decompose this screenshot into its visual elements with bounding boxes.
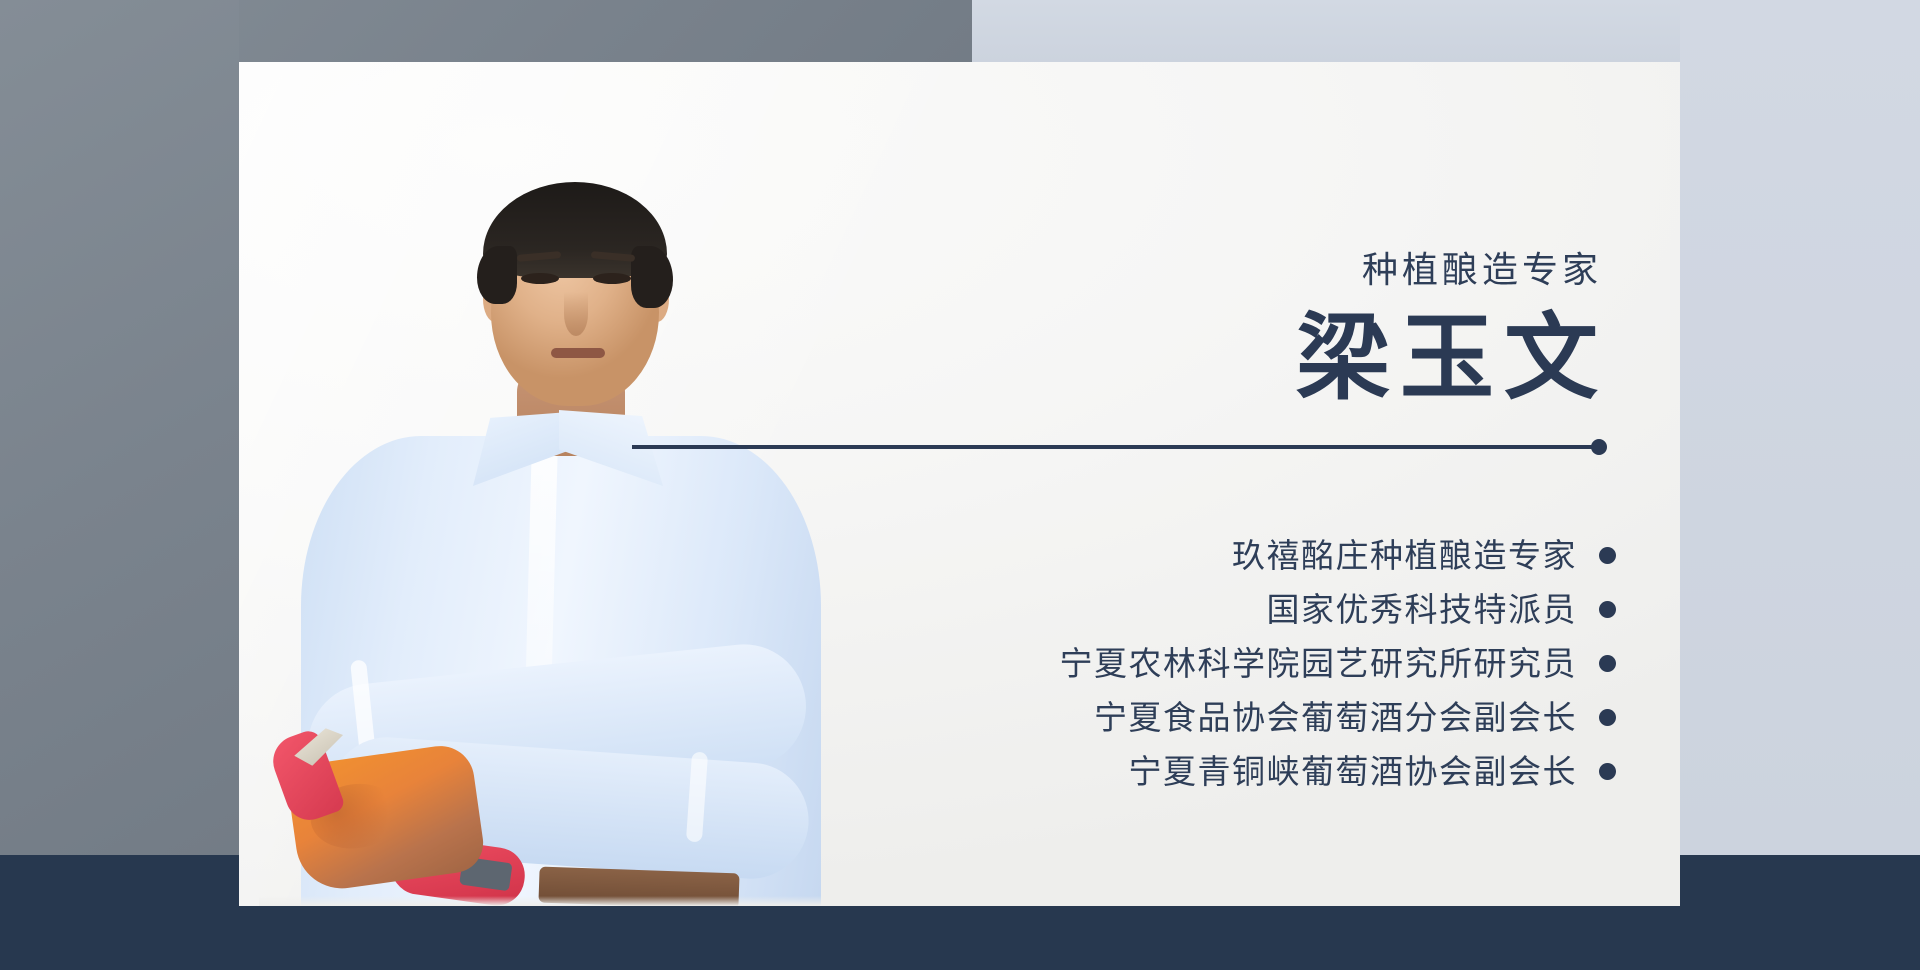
divider-end-dot-icon [1591,439,1607,455]
list-item: 玖禧酩庄种植酿造专家 [1232,528,1616,582]
credential-label: 玖禧酩庄种植酿造专家 [1232,539,1577,572]
poster-stage: 种植酿造专家 梁玉文 玖禧酩庄种植酿造专家 国家优秀科技特派员 宁夏农林科学院园… [0,0,1920,970]
credential-label: 宁夏食品协会葡萄酒分会副会长 [1094,701,1577,734]
bullet-dot-icon [1599,709,1616,726]
profile-subtitle: 种植酿造专家 [1362,252,1602,288]
portrait-bottom-fade [259,896,899,906]
bullet-dot-icon [1599,655,1616,672]
profile-card: 种植酿造专家 梁玉文 玖禧酩庄种植酿造专家 国家优秀科技特派员 宁夏农林科学院园… [239,62,1680,906]
bullet-dot-icon [1599,763,1616,780]
credential-label: 宁夏农林科学院园艺研究所研究员 [1060,647,1578,680]
list-item: 宁夏农林科学院园艺研究所研究员 [1060,636,1617,690]
bullet-dot-icon [1599,601,1616,618]
credentials-list: 玖禧酩庄种植酿造专家 国家优秀科技特派员 宁夏农林科学院园艺研究所研究员 宁夏食… [786,528,1616,798]
background-slate-left-column [0,0,239,855]
bullet-dot-icon [1599,547,1616,564]
divider-line [632,445,1602,449]
list-item: 宁夏青铜峡葡萄酒协会副会长 [1129,744,1617,798]
background-pale-blue-right-column [1680,0,1920,855]
credential-label: 国家优秀科技特派员 [1267,593,1578,626]
portrait-eye-left [521,273,559,284]
list-item: 国家优秀科技特派员 [1267,582,1617,636]
portrait-hair [483,182,667,278]
profile-name: 梁玉文 [1296,307,1608,412]
credential-label: 宁夏青铜峡葡萄酒协会副会长 [1129,755,1578,788]
list-item: 宁夏食品协会葡萄酒分会副会长 [1094,690,1616,744]
portrait-nose [564,292,588,336]
portrait-mouth [551,348,605,358]
portrait-eye-right [593,273,631,284]
